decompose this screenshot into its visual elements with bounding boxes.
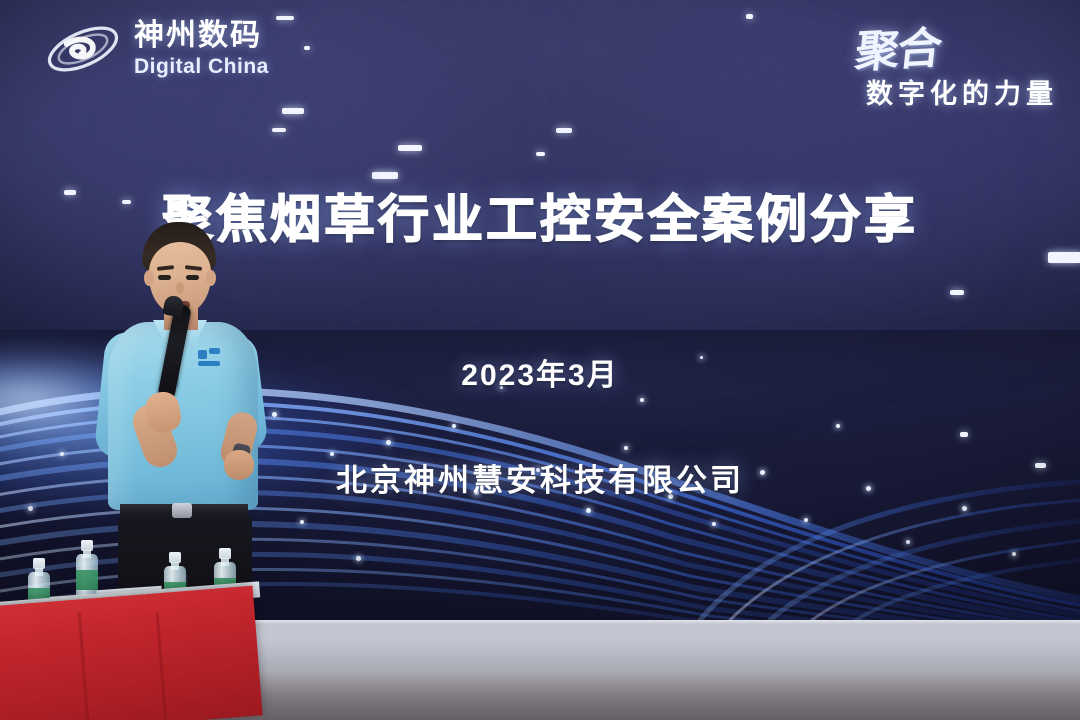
speaker-belt-buckle (172, 503, 192, 518)
judges-table (0, 586, 263, 720)
digital-china-swirl-logo (42, 18, 124, 80)
campaign-lockup: 聚合 数字化的力量 (856, 14, 1058, 111)
speaker-figure (96, 222, 286, 622)
speaker-nose (176, 282, 184, 294)
brand-name-en: Digital China (134, 56, 269, 77)
screenshot-root: 神州数码 Digital China 聚合 数字化的力量 聚焦烟草行业工控安全案… (0, 0, 1080, 720)
speaker-ear-right (206, 270, 216, 286)
speaker-eye-right (186, 275, 199, 280)
brand-name-cn: 神州数码 (134, 21, 269, 51)
speaker-chest-logo (196, 348, 222, 368)
water-bottle (76, 540, 98, 602)
speaker-right-hand (224, 450, 254, 480)
speaker-eye-left (158, 275, 171, 280)
campaign-calligraphy: 聚合 (852, 12, 943, 80)
brand-text: 神州数码 Digital China (134, 21, 269, 77)
brand-lockup: 神州数码 Digital China (42, 18, 269, 80)
speaker-ear-left (144, 270, 154, 286)
